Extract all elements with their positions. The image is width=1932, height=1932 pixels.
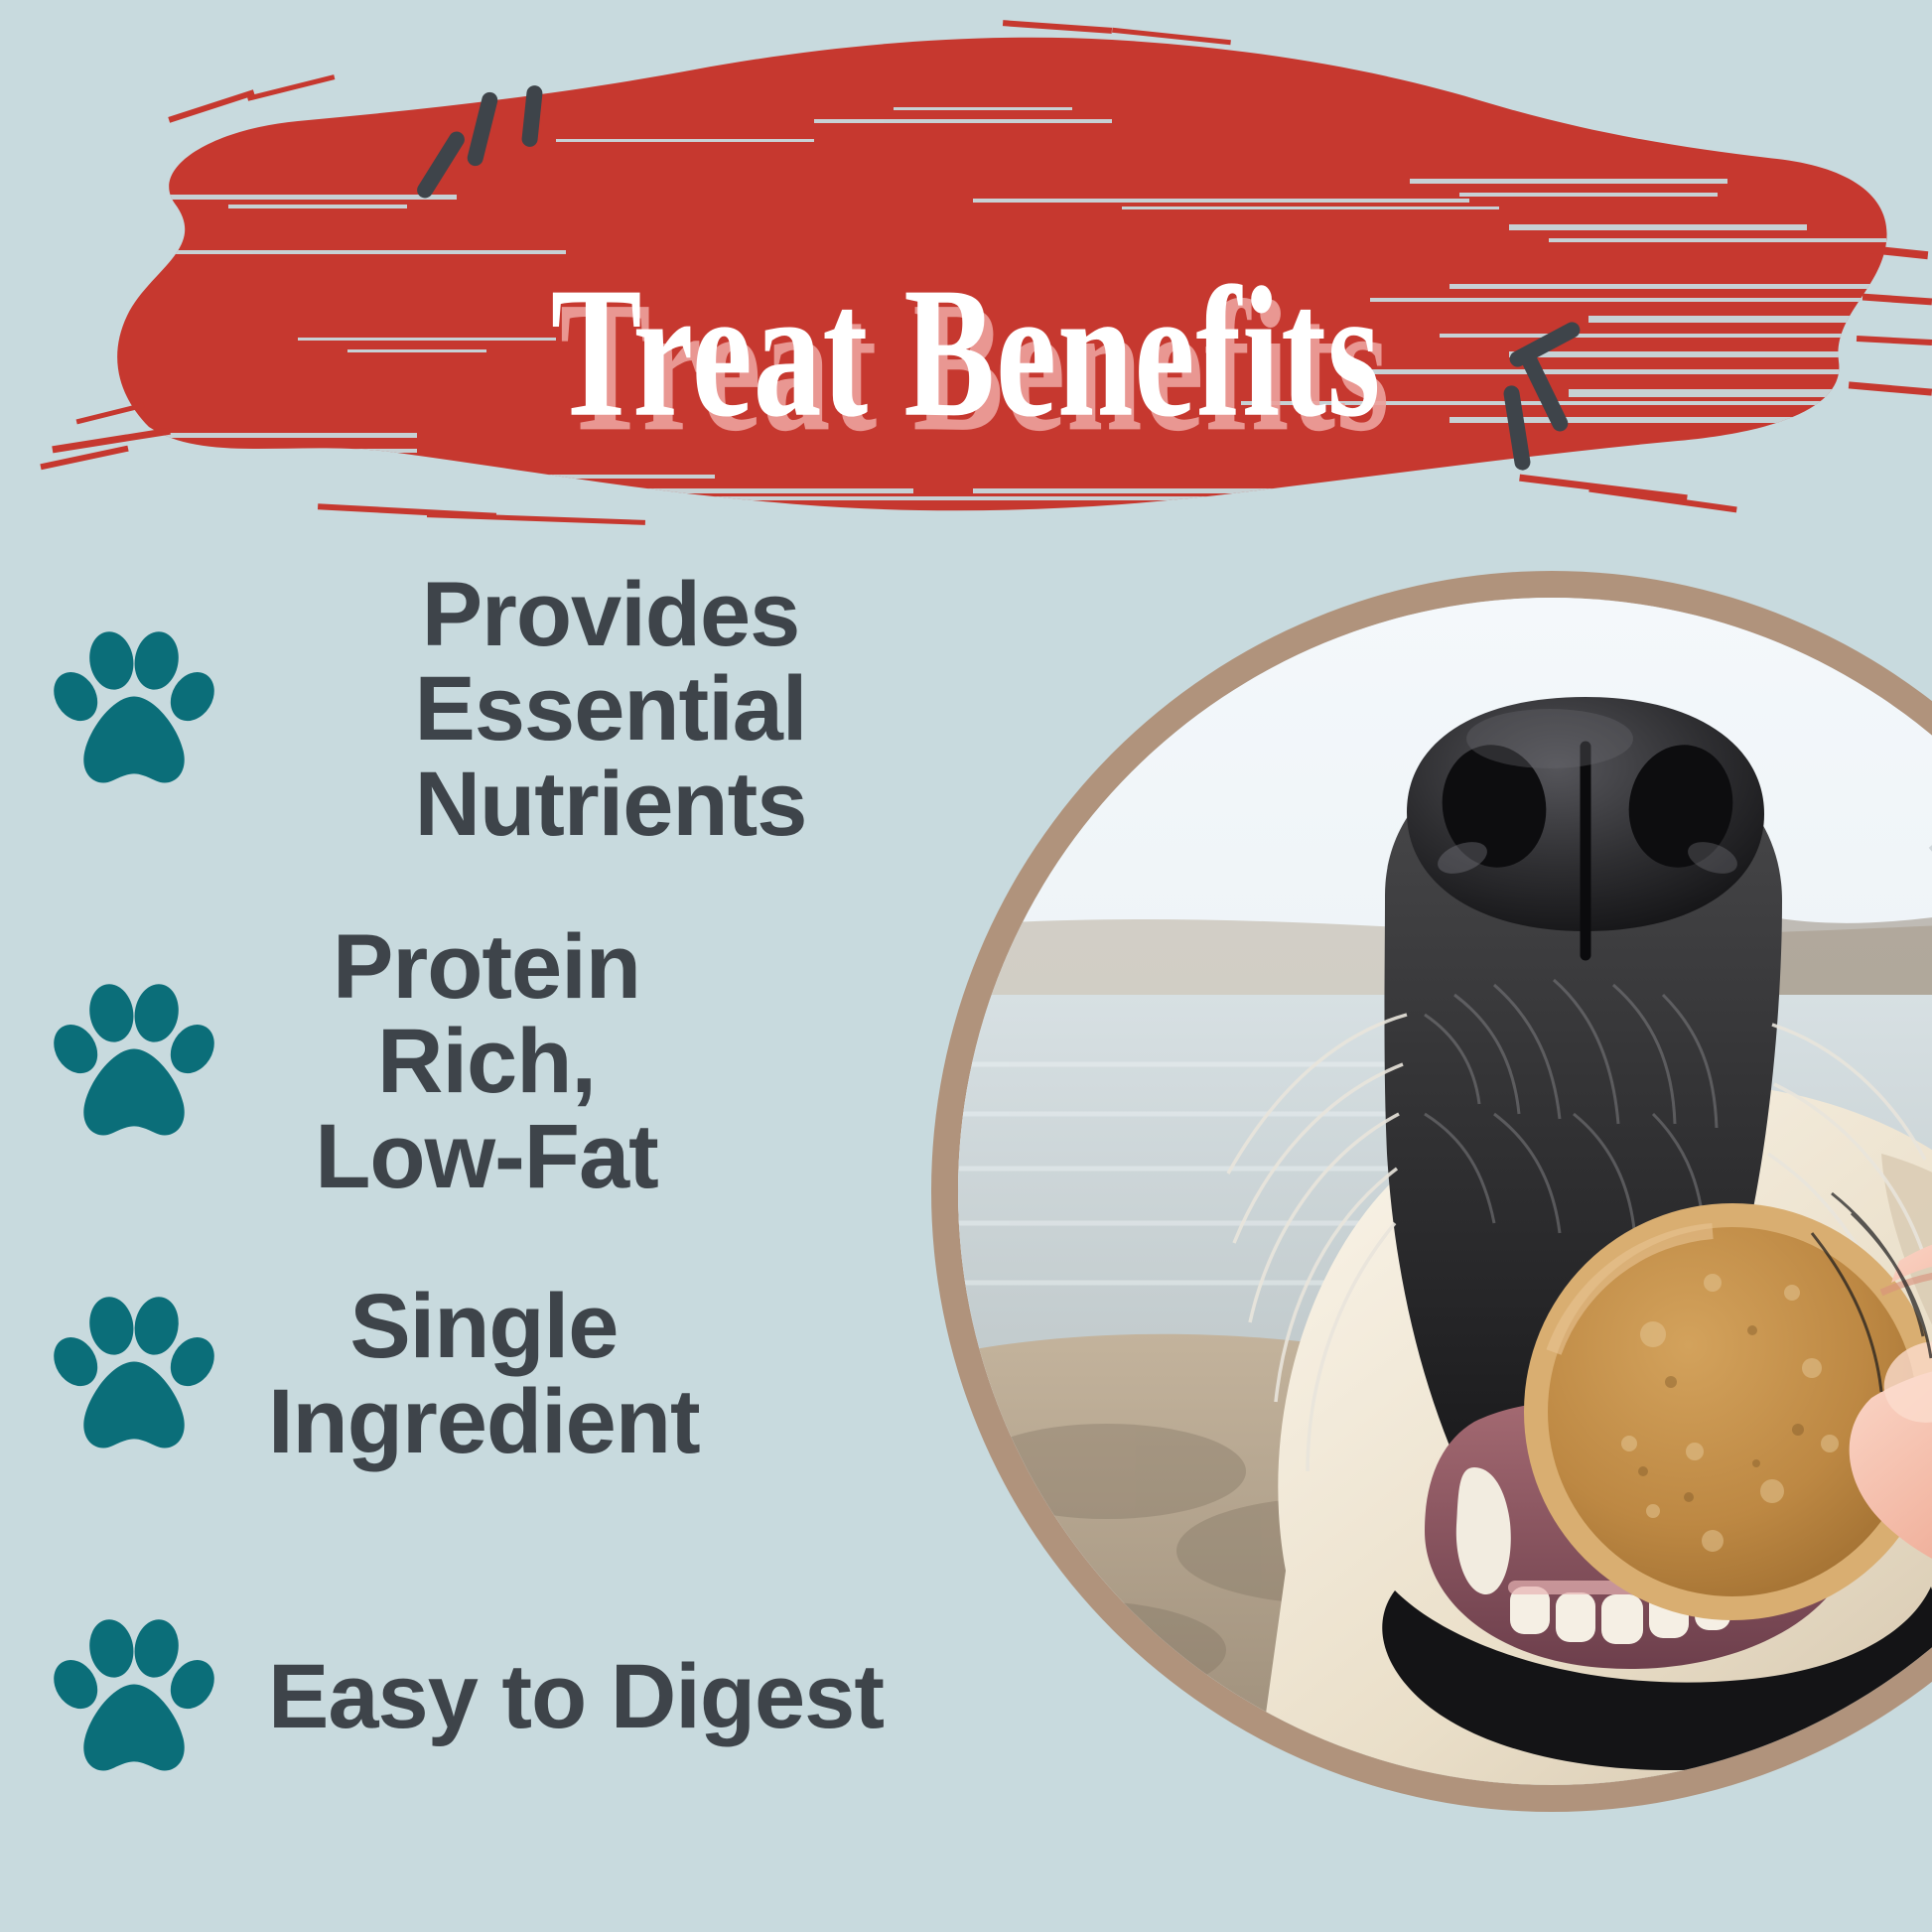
paw-icon (0, 1614, 268, 1781)
list-item-label: Easy to Digest (268, 1650, 1052, 1745)
list-item: Provides Essential Nutrients (0, 596, 1052, 824)
paw-icon (0, 979, 268, 1146)
paw-icon (0, 1292, 268, 1458)
list-item: Protein Rich, Low-Fat (0, 948, 1052, 1176)
list-item: Single Ingredient (0, 1261, 1052, 1489)
list-item-label: Provides Essential Nutrients (268, 568, 1052, 853)
poster-canvas: Treat Benefits Provides Essential Nutrie… (0, 0, 1932, 1932)
page-title: Treat Benefits (174, 259, 1758, 446)
list-item: Easy to Digest (0, 1598, 1052, 1797)
paw-icon (0, 626, 268, 793)
dog-treat-photo (958, 598, 1932, 1785)
